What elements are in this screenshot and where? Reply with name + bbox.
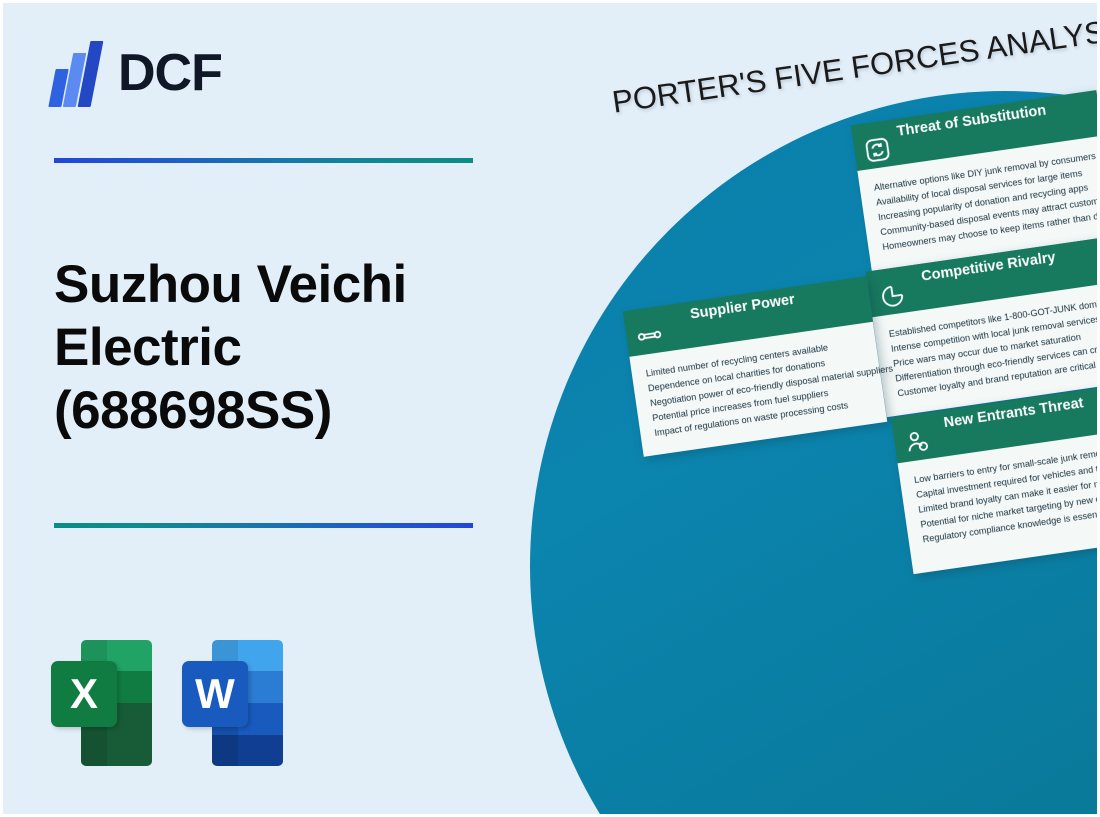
poster-page: DCF Suzhou Veichi Electric (688698SS) X …	[0, 0, 1100, 817]
card-title: Supplier Power	[624, 282, 862, 332]
bullet-list: Established competitors like 1-800-GOT-J…	[888, 295, 1097, 401]
poster-canvas: DCF Suzhou Veichi Electric (688698SS) X …	[3, 3, 1097, 814]
bullet-list: Limited number of recycling centers avai…	[645, 335, 873, 440]
five-forces-cards: Threat of Substitution Alternative optio…	[3, 3, 1097, 814]
bullet-list: Alternative options like DIY junk remova…	[873, 149, 1097, 254]
card-supplier-power[interactable]: Supplier Power Limited number of recycli…	[623, 276, 887, 456]
card-title: Threat of Substitution	[852, 96, 1092, 146]
